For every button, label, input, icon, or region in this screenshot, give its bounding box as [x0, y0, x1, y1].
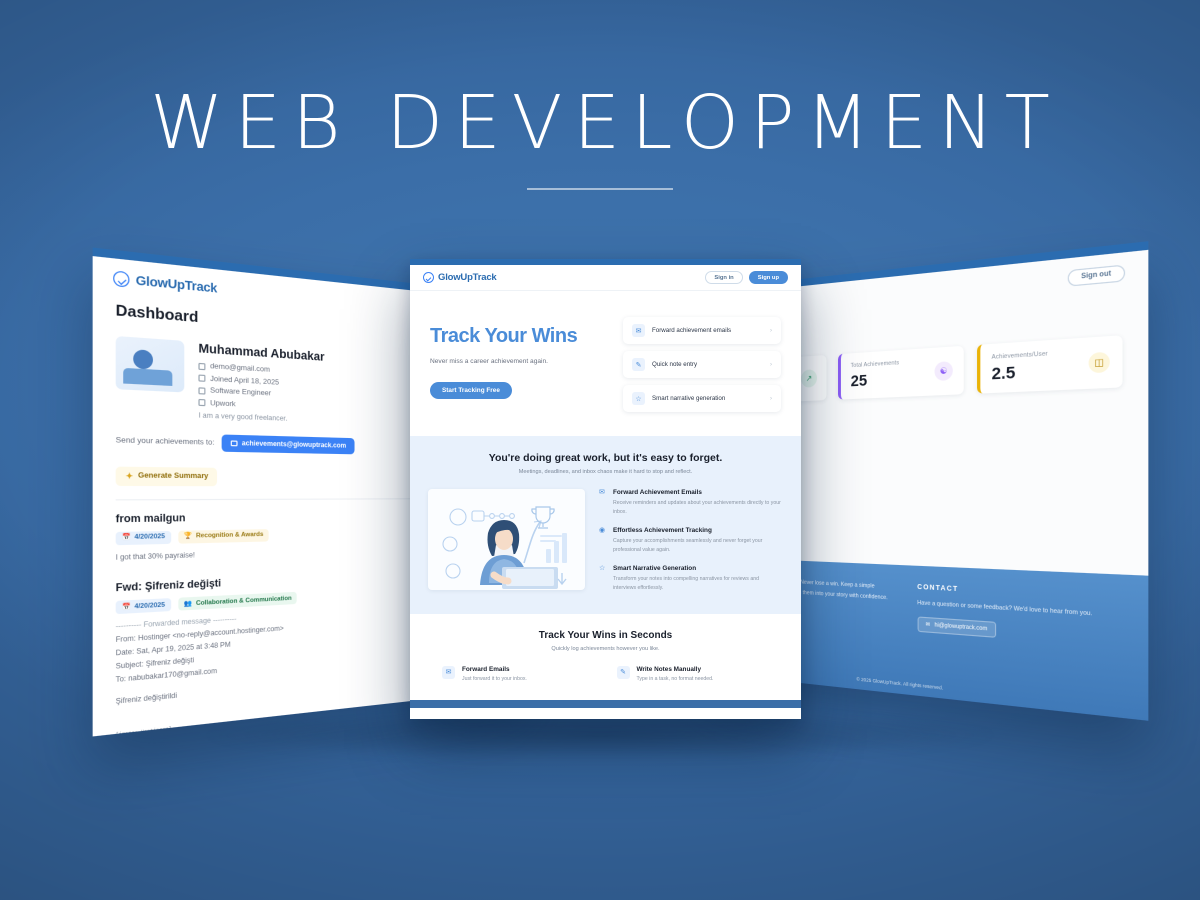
stat-value: 2.5: [992, 362, 1048, 382]
benefit-effortless-achievement-tracking: ◉ Effortless Achievement Tracking Captur…: [599, 527, 783, 555]
page-title: WEB DEVELOPMENT: [0, 86, 1200, 160]
achievements-email-text: achievements@glowuptrack.com: [242, 439, 346, 449]
bottom-subheading: Quickly log achievements however you lik…: [428, 646, 783, 652]
star-icon: ☆: [599, 565, 607, 593]
chevron-right-icon: ›: [770, 362, 772, 368]
feature-card-quick-note[interactable]: ✎ Quick note entry ›: [623, 351, 781, 378]
achievements-email-button[interactable]: achievements@glowuptrack.com: [221, 434, 354, 454]
mail-icon: ✉: [632, 324, 645, 337]
sign-out-button[interactable]: Sign out: [1068, 264, 1125, 286]
feature-card-label: Smart narrative generation: [652, 395, 763, 402]
avatar: [116, 336, 185, 392]
check-circle-icon: [113, 270, 129, 287]
entry-date-badge: 📅 4/20/2025: [116, 530, 171, 544]
method-title: Write Notes Manually: [637, 666, 714, 673]
title-divider: [527, 188, 673, 190]
chevron-right-icon: ›: [770, 328, 772, 334]
medal-icon: ☯: [935, 361, 953, 381]
check-circle-icon: ◉: [599, 527, 607, 555]
band-heading: You're doing great work, but it's easy t…: [428, 452, 783, 464]
calendar-icon: 📅: [122, 534, 131, 541]
sign-in-button[interactable]: Sign in: [705, 271, 742, 284]
landing-page-panel[interactable]: GlowUpTrack Sign in Sign up Track Your W…: [410, 259, 801, 719]
value-proposition-section: You're doing great work, but it's easy t…: [410, 436, 801, 614]
feature-card-forward-emails[interactable]: ✉ Forward achievement emails ›: [623, 317, 781, 344]
pencil-icon: ✎: [617, 666, 630, 679]
method-body: Just forward it to your inbox.: [462, 676, 527, 682]
brand-name: GlowUpTrack: [136, 273, 217, 295]
illustration-svg: [428, 489, 585, 590]
benefit-title: Smart Narrative Generation: [613, 565, 783, 572]
entry-date-badge: 📅 4/20/2025: [116, 598, 171, 614]
hero-feature-cards: ✉ Forward achievement emails › ✎ Quick n…: [623, 313, 781, 412]
briefcase-icon: ◫: [1089, 352, 1110, 374]
band-subheading: Meetings, deadlines, and inbox chaos mak…: [428, 469, 783, 475]
contact-email-text: hi@glowuptrack.com: [934, 622, 987, 633]
footer-contact-column: CONTACT Have a question or some feedback…: [917, 583, 1120, 698]
bottom-heading: Track Your Wins in Seconds: [428, 630, 783, 641]
calendar-icon: [198, 374, 205, 381]
start-tracking-free-button[interactable]: Start Tracking Free: [430, 382, 512, 399]
track-in-seconds-section: Track Your Wins in Seconds Quickly log a…: [410, 614, 801, 700]
hero-heading: Track Your Wins: [430, 325, 605, 348]
hero-copy: Track Your Wins Never miss a career achi…: [430, 313, 605, 412]
poster-title-block: WEB DEVELOPMENT: [0, 86, 1200, 190]
sparkle-icon: ✦: [126, 471, 133, 481]
feature-card-label: Forward achievement emails: [652, 327, 763, 334]
trending-up-icon: ↗: [801, 369, 817, 388]
mail-icon: [230, 440, 237, 446]
woman-at-laptop-illustration: [428, 489, 585, 590]
mail-icon: ✉: [442, 666, 455, 679]
entry-tag-badge: 👥 Collaboration & Communication: [178, 592, 297, 611]
benefit-body: Transform your notes into compelling nar…: [613, 575, 783, 593]
entry-tag-badge: 🏆 Recognition & Awards: [178, 529, 269, 544]
pencil-icon: ✎: [632, 358, 645, 371]
method-forward-emails[interactable]: ✉ Forward Emails Just forward it to your…: [442, 666, 595, 682]
generate-summary-label: Generate Summary: [138, 472, 208, 481]
benefit-forward-achievement-emails: ✉ Forward Achievement Emails Receive rem…: [599, 489, 783, 517]
check-circle-icon: [423, 272, 434, 283]
hero-subheading: Never miss a career achievement again.: [430, 358, 605, 365]
landing-navbar: GlowUpTrack Sign in Sign up: [410, 265, 801, 291]
star-icon: ☆: [632, 392, 645, 405]
benefit-body: Capture your accomplishments seamlessly …: [613, 537, 783, 555]
benefit-title: Forward Achievement Emails: [613, 489, 783, 496]
mail-icon: [198, 362, 205, 369]
stat-label: Achievements/User: [992, 351, 1048, 361]
mail-icon: ✉: [926, 621, 931, 628]
benefit-body: Receive reminders and updates about your…: [613, 499, 783, 517]
navbar-actions: Sign in Sign up: [705, 271, 788, 284]
method-write-notes-manually[interactable]: ✎ Write Notes Manually Type in a task, n…: [617, 666, 770, 682]
stat-card-total-achievements[interactable]: Total Achievements 25 ☯: [838, 346, 964, 400]
method-body: Type in a task, no format needed.: [637, 676, 714, 682]
method-title: Forward Emails: [462, 666, 527, 673]
feature-card-smart-narrative[interactable]: ☆ Smart narrative generation ›: [623, 385, 781, 412]
stat-label: Total Achievements: [851, 360, 899, 369]
mail-icon: ✉: [599, 489, 607, 517]
feature-card-label: Quick note entry: [652, 361, 763, 368]
benefit-list: ✉ Forward Achievement Emails Receive rem…: [599, 489, 783, 594]
benefit-smart-narrative-generation: ☆ Smart Narrative Generation Transform y…: [599, 565, 783, 593]
generate-summary-button[interactable]: ✦ Generate Summary: [116, 466, 218, 486]
brand-name: GlowUpTrack: [438, 272, 497, 283]
chevron-right-icon: ›: [770, 396, 772, 402]
sign-up-button[interactable]: Sign up: [749, 271, 788, 284]
link-icon: [198, 399, 205, 406]
stat-value: 25: [851, 371, 899, 390]
hero-section: Track Your Wins Never miss a career achi…: [410, 291, 801, 436]
send-achievements-label: Send your achievements to:: [116, 436, 215, 447]
benefit-title: Effortless Achievement Tracking: [613, 527, 783, 534]
trophy-icon: 🏆: [184, 533, 192, 540]
calendar-icon: 📅: [122, 604, 131, 612]
brand-logo[interactable]: GlowUpTrack: [423, 272, 497, 283]
center-panel-footer-strip: [410, 700, 801, 708]
users-icon: 👥: [184, 600, 192, 607]
briefcase-icon: [198, 387, 205, 394]
contact-email-button[interactable]: ✉ hi@glowuptrack.com: [917, 616, 996, 637]
stat-card-achievements-per-user[interactable]: Achievements/User 2.5 ◫: [977, 335, 1123, 393]
